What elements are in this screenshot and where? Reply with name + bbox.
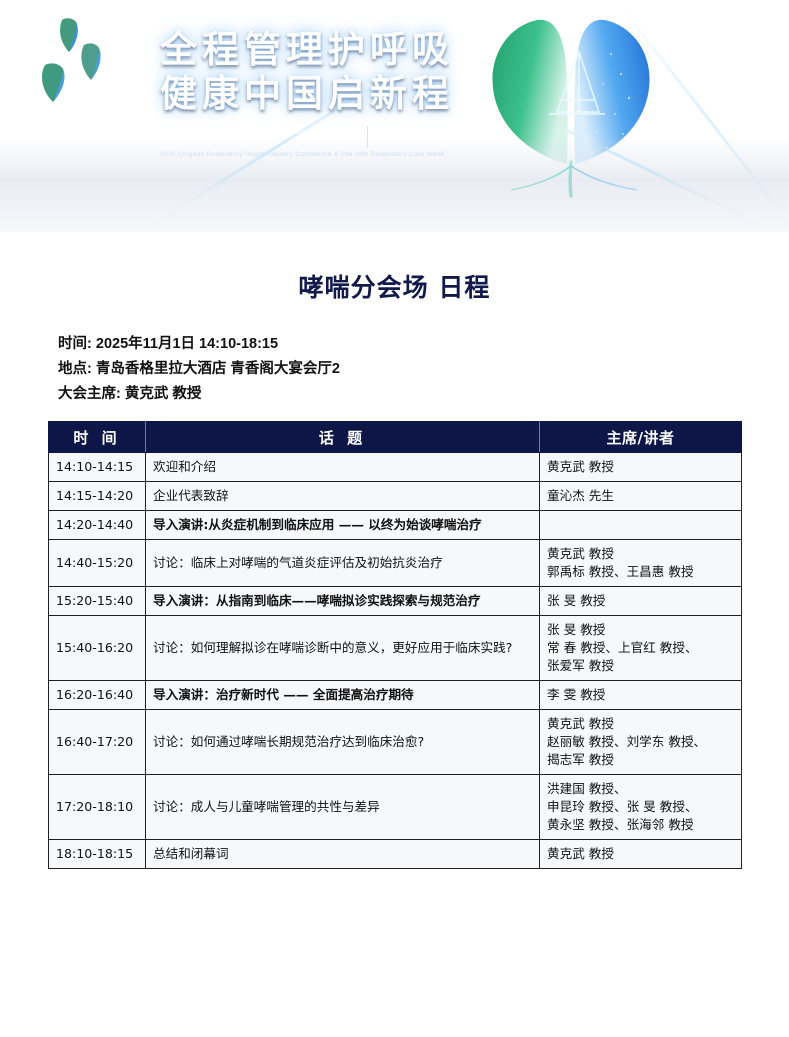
cell-chair: 黄克武 教授赵丽敏 教授、刘学东 教授、揭志军 教授 xyxy=(540,710,742,775)
meta-venue-label: 地点: xyxy=(58,361,92,377)
cell-topic: 导入演讲：治疗新时代 —— 全面提高治疗期待 xyxy=(146,681,540,710)
event-meta: 时间: 2025年11月1日 14:10-18:15 地点: 青岛香格里拉大酒店… xyxy=(58,332,789,407)
banner-subtitle-divider xyxy=(367,126,368,137)
banner-en-word-2: For xyxy=(254,137,267,148)
cell-chair: 张 旻 教授常 春 教授、上官红 教授、张爱军 教授 xyxy=(540,616,742,681)
banner-en-line-2: New Journey For Healthy China xyxy=(160,137,365,148)
table-row: 14:10-14:15欢迎和介绍黄克武 教授 xyxy=(49,453,742,482)
cell-topic: 讨论：临床上对哮喘的气道炎症评估及初始抗炎治疗 xyxy=(146,540,540,587)
banner-headline: 全程管理护呼吸 健康中国启新程 xyxy=(160,28,490,116)
banner-cn-side-line-2: 暨 第 二 十 四 届 呼 吸 周 xyxy=(374,137,475,148)
table-header-row: 时 间 话 题 主席/讲者 xyxy=(49,422,742,453)
column-header-topic: 话 题 xyxy=(146,422,540,453)
cell-chair: 洪建国 教授、申昆玲 教授、张 旻 教授、黄永坚 教授、张海邻 教授 xyxy=(540,775,742,840)
banner-subtitle-divider-2 xyxy=(367,137,368,148)
table-row: 18:10-18:15总结和闭幕词黄克武 教授 xyxy=(49,840,742,869)
schedule-table: 时 间 话 题 主席/讲者 14:10-14:15欢迎和介绍黄克武 教授14:1… xyxy=(48,421,742,869)
cell-chair: 张 旻 教授 xyxy=(540,587,742,616)
cell-topic: 导入演讲：从指南到临床——哮喘拟诊实践探索与规范治疗 xyxy=(146,587,540,616)
table-row: 14:20-14:40导入演讲:从炎症机制到临床应用 —— 以终为始谈哮喘治疗 xyxy=(49,511,742,540)
cell-topic: 讨论：成人与儿童哮喘管理的共性与差异 xyxy=(146,775,540,840)
schedule-table-wrap: 时 间 话 题 主席/讲者 14:10-14:15欢迎和介绍黄克武 教授14:1… xyxy=(48,421,741,869)
table-row: 15:40-16:20讨论：如何理解拟诊在哮喘诊断中的意义，更好应用于临床实践?… xyxy=(49,616,742,681)
ginkgo-leaflet-icon-2 xyxy=(78,42,104,80)
ginkgo-leaf-logo-icon xyxy=(471,14,671,199)
banner-en-word-3: Healthy xyxy=(290,137,320,148)
banner-en-word-1: Journey xyxy=(200,137,232,148)
cell-time: 16:20-16:40 xyxy=(49,681,146,710)
cell-chair: 李 雯 教授 xyxy=(540,681,742,710)
event-banner: 全程管理护呼吸 健康中国启新程 Holistic Management For … xyxy=(0,0,789,232)
cell-time: 18:10-18:15 xyxy=(49,840,146,869)
cell-time: 15:40-16:20 xyxy=(49,616,146,681)
cell-time: 14:10-14:15 xyxy=(49,453,146,482)
column-header-time: 时 间 xyxy=(49,422,146,453)
meta-venue-row: 地点: 青岛香格里拉大酒店 青香阁大宴会厅2 xyxy=(58,357,789,382)
meta-time-label: 时间: xyxy=(58,336,92,352)
meta-venue-value: 青岛香格里拉大酒店 青香阁大宴会厅2 xyxy=(96,361,340,377)
cell-topic: 导入演讲:从炎症机制到临床应用 —— 以终为始谈哮喘治疗 xyxy=(146,511,540,540)
cell-time: 16:40-17:20 xyxy=(49,710,146,775)
cell-chair: 黄克武 教授郭禹标 教授、王昌惠 教授 xyxy=(540,540,742,587)
cell-topic: 讨论：如何通过哮喘长期规范治疗达到临床治愈? xyxy=(146,710,540,775)
ginkgo-leaflet-icon-1 xyxy=(58,18,80,52)
cell-topic: 总结和闭幕词 xyxy=(146,840,540,869)
banner-en-line-1: Holistic Management For Respiratory Heal… xyxy=(160,126,365,137)
meta-chair-value: 黄克武 教授 xyxy=(125,386,202,402)
banner-cn-side-line-1: 2025青岛呼吸产业大会 xyxy=(374,126,464,137)
schedule-table-body: 14:10-14:15欢迎和介绍黄克武 教授14:15-14:20企业代表致辞童… xyxy=(49,453,742,869)
banner-headline-line-2: 健康中国启新程 xyxy=(160,72,490,116)
meta-time-value: 2025年11月1日 14:10-18:15 xyxy=(96,336,278,352)
cell-time: 14:15-14:20 xyxy=(49,482,146,511)
cell-chair: 童沁杰 先生 xyxy=(540,482,742,511)
cell-time: 14:40-15:20 xyxy=(49,540,146,587)
cell-topic: 企业代表致辞 xyxy=(146,482,540,511)
banner-subtitle-block: Holistic Management For Respiratory Heal… xyxy=(160,126,480,159)
banner-en-word-4: China xyxy=(342,137,365,148)
table-row: 16:20-16:40导入演讲：治疗新时代 —— 全面提高治疗期待李 雯 教授 xyxy=(49,681,742,710)
table-row: 17:20-18:10讨论：成人与儿童哮喘管理的共性与差异洪建国 教授、申昆玲 … xyxy=(49,775,742,840)
table-row: 15:20-15:40导入演讲：从指南到临床——哮喘拟诊实践探索与规范治疗张 旻… xyxy=(49,587,742,616)
ginkgo-leaflet-icon-3 xyxy=(38,62,68,102)
table-row: 14:40-15:20讨论：临床上对哮喘的气道炎症评估及初始抗炎治疗黄克武 教授… xyxy=(49,540,742,587)
table-row: 14:15-14:20企业代表致辞童沁杰 先生 xyxy=(49,482,742,511)
cell-chair: 黄克武 教授 xyxy=(540,840,742,869)
cell-chair: 黄克武 教授 xyxy=(540,453,742,482)
banner-headline-line-1: 全程管理护呼吸 xyxy=(160,28,490,72)
meta-time-row: 时间: 2025年11月1日 14:10-18:15 xyxy=(58,332,789,357)
banner-en-subline: 2025 Qingdao Respiratory Health Industry… xyxy=(160,150,480,159)
banner-en-word-0: New xyxy=(160,137,177,148)
page-title: 哮喘分会场 日程 xyxy=(0,268,789,304)
meta-chair-row: 大会主席: 黄克武 教授 xyxy=(58,382,789,407)
schedule-table-head: 时 间 话 题 主席/讲者 xyxy=(49,422,742,453)
table-row: 16:40-17:20讨论：如何通过哮喘长期规范治疗达到临床治愈?黄克武 教授赵… xyxy=(49,710,742,775)
meta-chair-label: 大会主席: xyxy=(58,386,121,402)
cell-time: 15:20-15:40 xyxy=(49,587,146,616)
cell-topic: 讨论：如何理解拟诊在哮喘诊断中的意义，更好应用于临床实践? xyxy=(146,616,540,681)
cell-chair xyxy=(540,511,742,540)
column-header-chair: 主席/讲者 xyxy=(540,422,742,453)
cell-time: 17:20-18:10 xyxy=(49,775,146,840)
cell-time: 14:20-14:40 xyxy=(49,511,146,540)
cell-topic: 欢迎和介绍 xyxy=(146,453,540,482)
